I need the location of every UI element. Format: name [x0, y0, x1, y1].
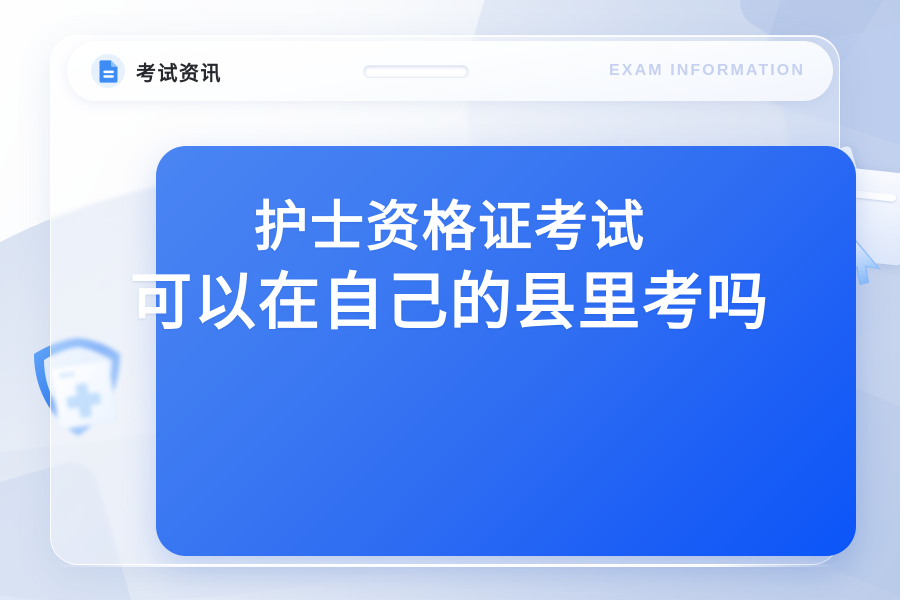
header-bar: 考试资讯 EXAM INFORMATION: [67, 41, 833, 101]
header-left-group: 考试资讯: [67, 54, 222, 88]
page-title: 考试资讯: [136, 57, 222, 86]
content-card: 考试资讯 EXAM INFORMATION: [50, 35, 840, 565]
header-notch-zone: [222, 66, 609, 77]
document-icon: [91, 54, 125, 88]
header-subtitle-en: EXAM INFORMATION: [609, 62, 833, 80]
header-notch: [364, 66, 468, 77]
hero-banner: [156, 146, 856, 556]
